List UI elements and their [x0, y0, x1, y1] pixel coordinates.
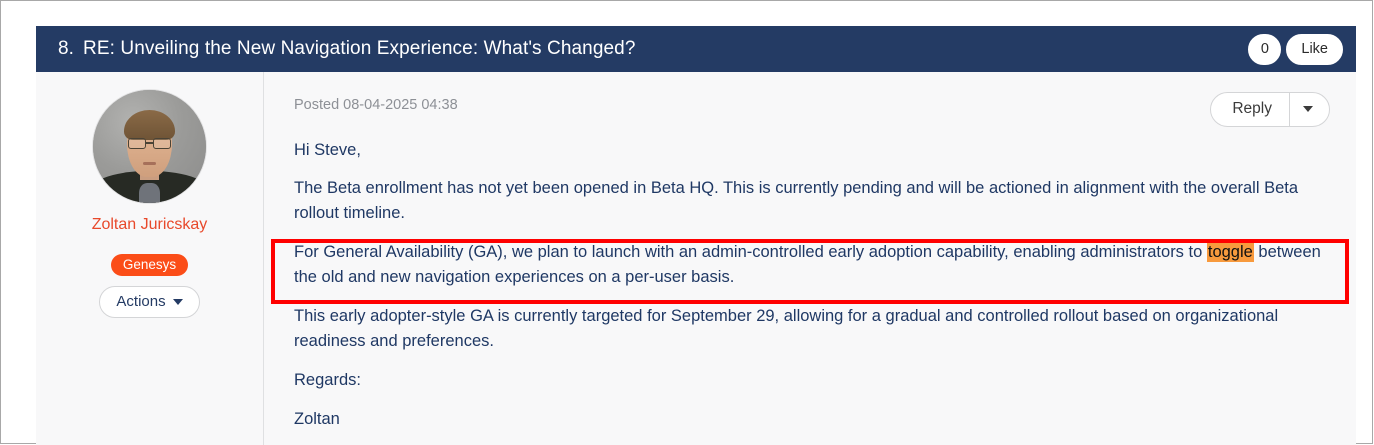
- actions-button-label: Actions: [116, 293, 165, 310]
- author-sidebar: Zoltan Juricskay Genesys Actions: [36, 72, 264, 445]
- chevron-down-icon: [1303, 106, 1313, 112]
- message-paragraph-target: This early adopter-style GA is currently…: [294, 304, 1330, 354]
- reply-dropdown-toggle[interactable]: [1290, 93, 1329, 126]
- like-count-badge[interactable]: 0: [1248, 34, 1281, 65]
- chevron-down-icon: [173, 299, 183, 305]
- message-body: Hi Steve, The Beta enrollment has not ye…: [294, 138, 1330, 432]
- user-avatar-photo-icon[interactable]: [93, 90, 206, 203]
- message-column: Posted 08-04-2025 04:38 Reply Hi Steve, …: [264, 72, 1356, 445]
- reply-button[interactable]: Reply: [1211, 93, 1289, 126]
- reply-button-group[interactable]: Reply: [1210, 92, 1330, 127]
- header-actions: 0 Like: [1248, 34, 1343, 65]
- like-button[interactable]: Like: [1286, 34, 1343, 65]
- avatar-shirt: [139, 183, 159, 203]
- author-name-link[interactable]: Zoltan Juricskay: [92, 216, 208, 234]
- page-title: 8. RE: Unveiling the New Navigation Expe…: [58, 38, 1248, 60]
- message-meta-row: Posted 08-04-2025 04:38 Reply: [294, 92, 1330, 127]
- message-greeting: Hi Steve,: [294, 138, 1330, 163]
- avatar-glasses-bridge: [146, 142, 153, 144]
- message-paragraph-beta: The Beta enrollment has not yet been ope…: [294, 176, 1330, 226]
- message-closing: Regards:: [294, 368, 1330, 393]
- message-signature: Zoltan: [294, 407, 1330, 432]
- post-body: Zoltan Juricskay Genesys Actions Posted …: [36, 72, 1356, 445]
- post-subject: RE: Unveiling the New Navigation Experie…: [83, 38, 635, 60]
- page-frame: 8. RE: Unveiling the New Navigation Expe…: [0, 0, 1373, 444]
- message-paragraph-ga: For General Availability (GA), we plan t…: [294, 240, 1330, 290]
- avatar-mouth: [143, 162, 157, 164]
- post-header: 8. RE: Unveiling the New Navigation Expe…: [36, 26, 1356, 72]
- forum-post-card: 8. RE: Unveiling the New Navigation Expe…: [36, 26, 1356, 445]
- actions-button[interactable]: Actions: [99, 286, 199, 318]
- status-badge: Genesys: [111, 254, 188, 276]
- ga-text-before: For General Availability (GA), we plan t…: [294, 243, 1207, 261]
- posted-timestamp: Posted 08-04-2025 04:38: [294, 92, 458, 113]
- highlighted-term: toggle: [1207, 242, 1254, 262]
- post-index: 8.: [58, 38, 74, 60]
